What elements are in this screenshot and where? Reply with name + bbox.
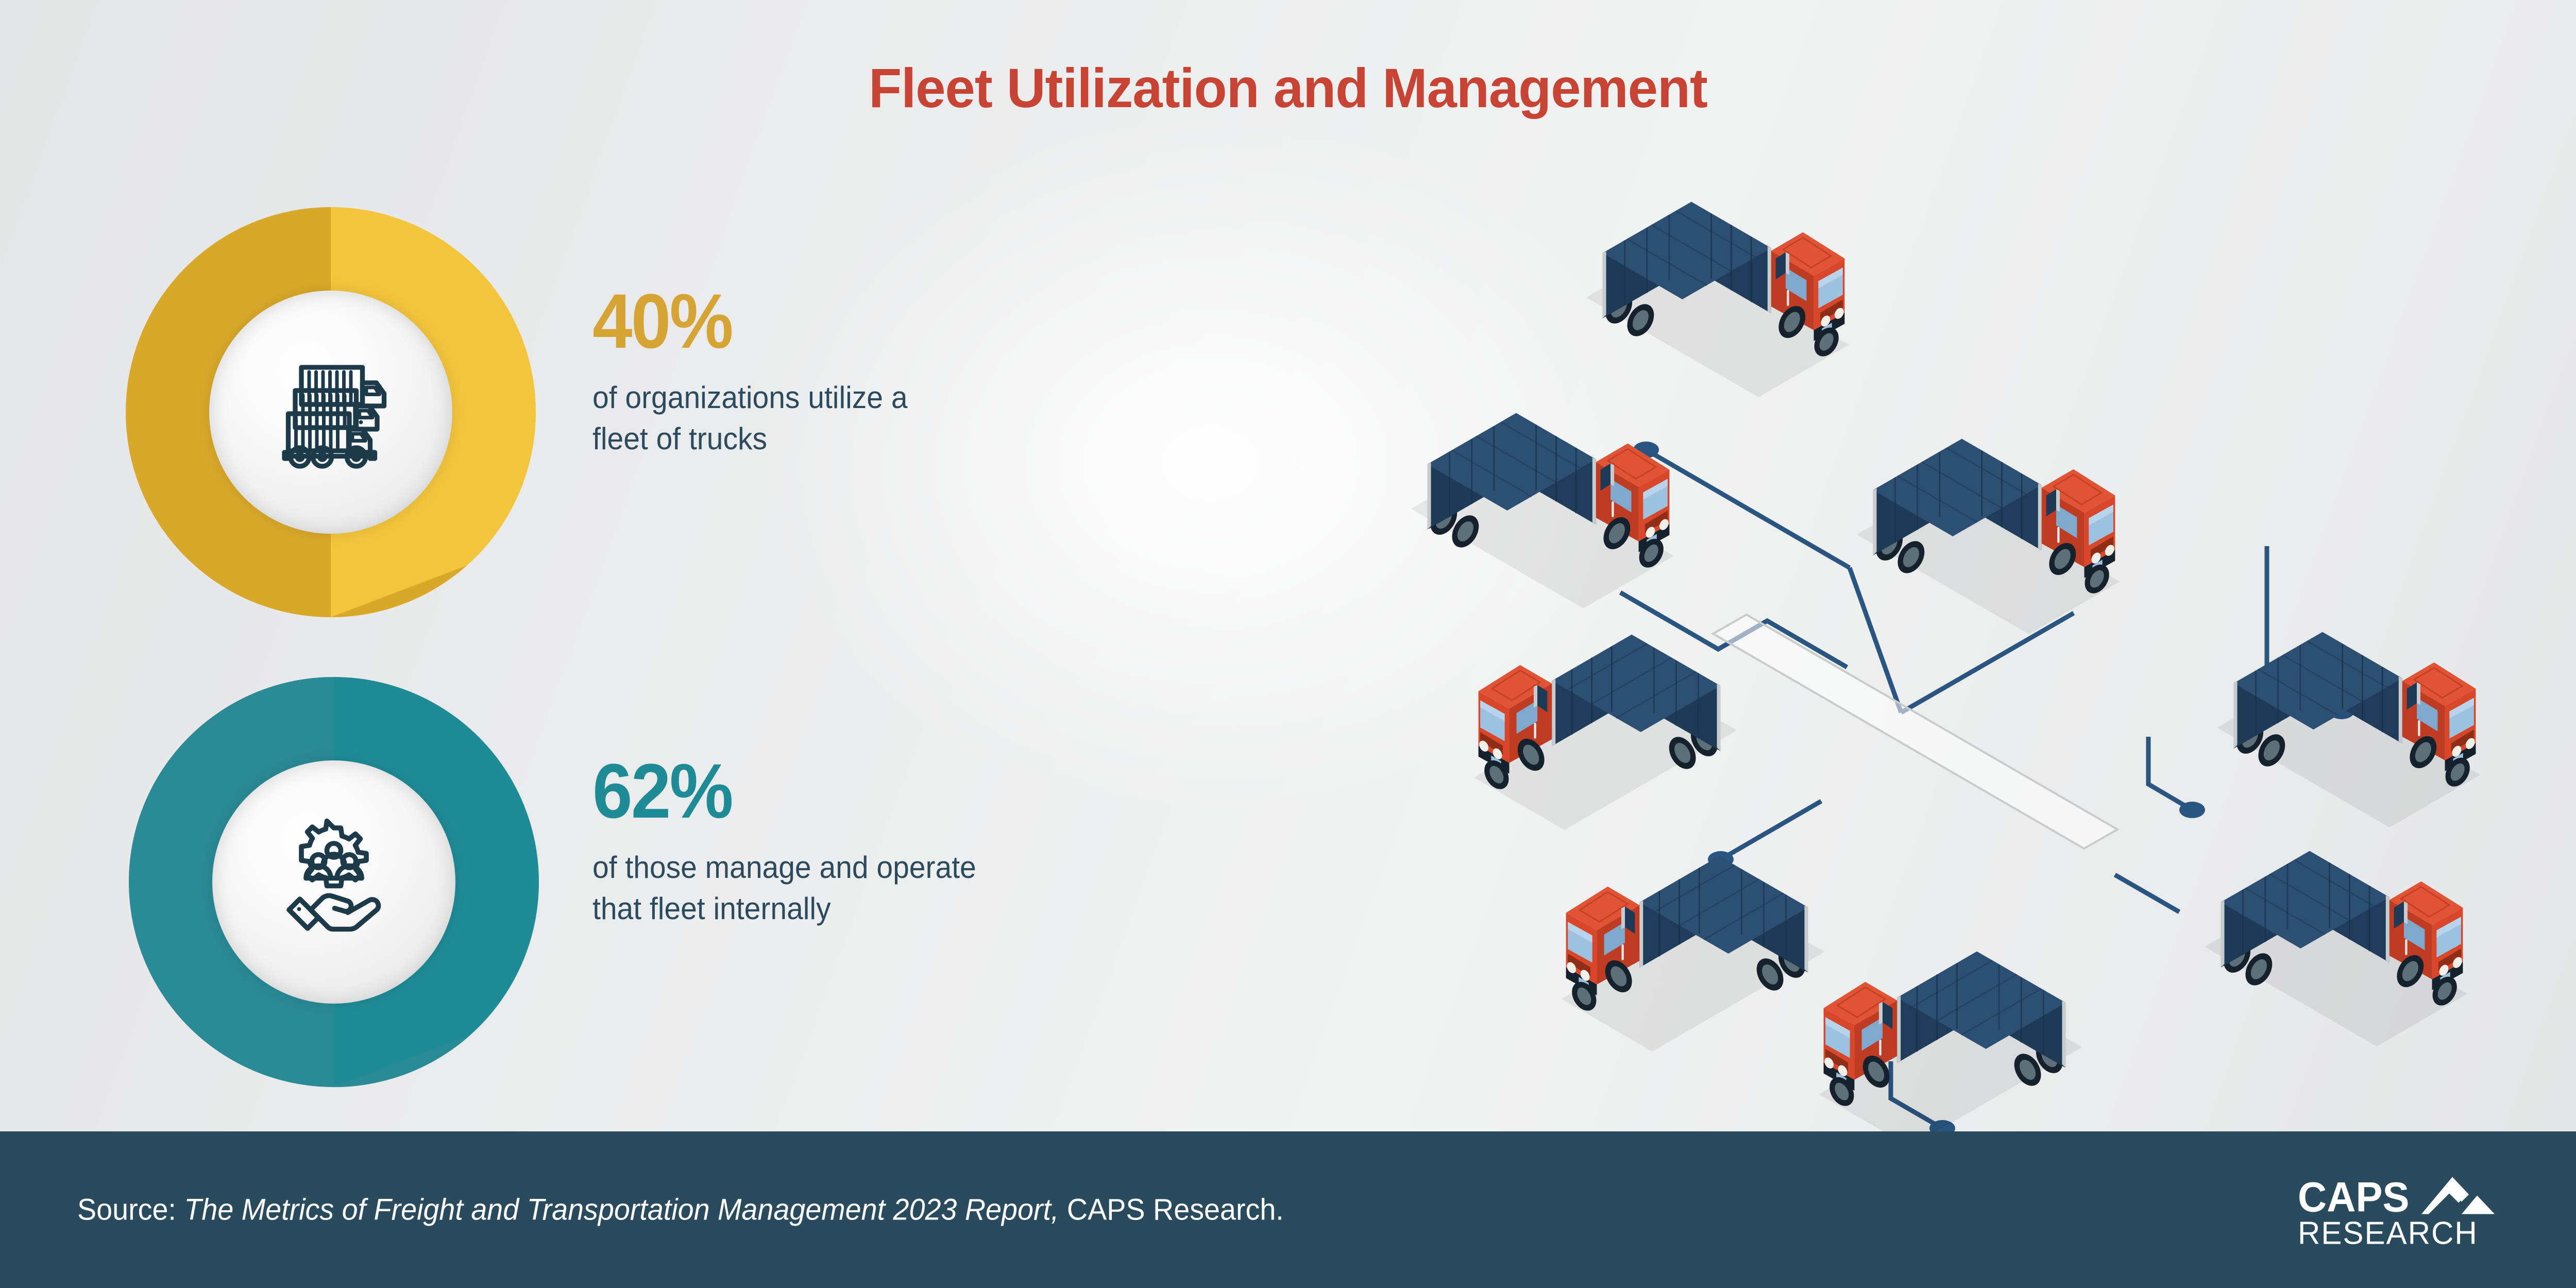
truck-1	[1586, 202, 1849, 397]
logo-research-text: RESEARCH	[2298, 1218, 2478, 1250]
source-suffix: CAPS Research.	[1059, 1193, 1283, 1227]
truck-2	[1411, 413, 1674, 608]
truck-8	[1819, 952, 2082, 1133]
stat-description-62-line2: that fleet internally	[592, 888, 1278, 929]
source-prefix: Source:	[77, 1193, 184, 1227]
donut-ring-teal	[129, 677, 539, 1087]
truck-6	[2217, 632, 2480, 827]
gear-people-in-hand-icon	[257, 805, 411, 959]
caps-research-logo: CAPS RESEARCH	[2298, 1170, 2499, 1250]
source-title: The Metrics of Freight and Transportatio…	[184, 1193, 1059, 1227]
truck-4	[1474, 635, 1737, 830]
infographic-canvas: Fleet Utilization and Management	[0, 0, 2576, 1288]
truck-3	[1857, 439, 2120, 634]
truck-5	[1562, 856, 1824, 1052]
logo-caps-text: CAPS	[2298, 1178, 2409, 1216]
footer-bar: Source: The Metrics of Freight and Trans…	[0, 1131, 2576, 1288]
truck-7	[2205, 851, 2467, 1046]
stat-block-62: 62% of those manage and operate that fle…	[0, 0, 1288, 567]
stat-value-62: 62%	[592, 752, 1263, 829]
mountain-icon	[2421, 1170, 2499, 1217]
icon-circle-gear-hand	[212, 760, 455, 1004]
isometric-truck-network	[1303, 155, 2576, 1133]
stat-text-62: 62% of those manage and operate that fle…	[592, 752, 1314, 929]
stat-description-62: of those manage and operate that fleet i…	[592, 847, 1278, 929]
source-citation: Source: The Metrics of Freight and Trans…	[77, 1193, 1284, 1227]
stat-description-62-line1: of those manage and operate	[592, 847, 1278, 888]
